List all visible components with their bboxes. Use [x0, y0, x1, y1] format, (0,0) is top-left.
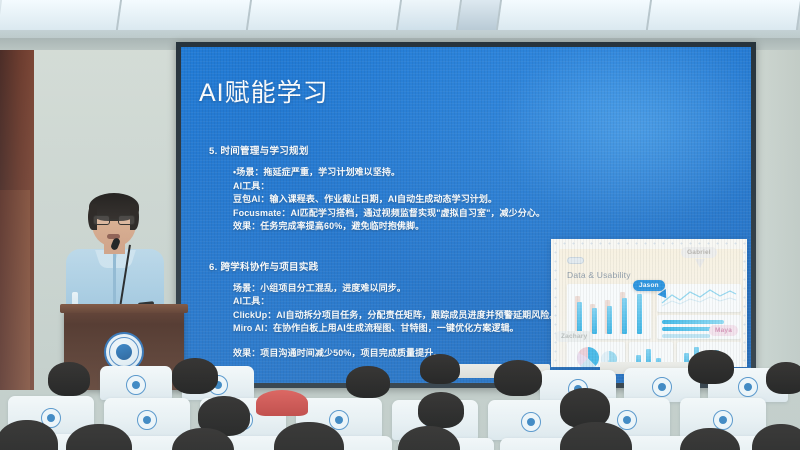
section-6-line-4: Miro AI：在协作白板上用AI生成流程图、甘特图，一键优化方案逻辑。: [233, 322, 563, 336]
seat-logo-icon: [617, 410, 637, 430]
lecture-hall-scene: AI赋能学习 5. 时间管理与学习规划 •场景：拖延症严重，学习计划难以坚持。 …: [0, 0, 800, 450]
section-5-line-5: 效果：任务完成率提高60%，避免临时抱佛脚。: [233, 220, 563, 234]
collaborator-badge-jason: Jason: [633, 280, 665, 291]
section-5-line-3: 豆包AI：输入课程表、作业截止日期，AI自动生成动态学习计划。: [233, 193, 563, 207]
whiteboard-mockup: Data & Usability: [551, 239, 747, 367]
slide-title: AI赋能学习: [199, 73, 329, 109]
section-6-lines: 场景：小组项目分工混乱，进度难以同步。 AI工具： ClickUp：AI自动拆分…: [233, 282, 563, 361]
board-title: Data & Usability: [567, 270, 631, 280]
glasses-icon: [93, 215, 135, 225]
audience-head: [420, 354, 460, 384]
audience-head: [688, 350, 734, 384]
collaborator-badge-zachary: Zachary: [555, 331, 593, 342]
presentation-screen: AI赋能学习 5. 时间管理与学习规划 •场景：拖延症严重，学习计划难以坚持。 …: [181, 47, 751, 383]
audience-cap: [256, 390, 308, 416]
section-5-lines: •场景：拖延症严重，学习计划难以坚持。 AI工具： 豆包AI：输入课程表、作业截…: [233, 166, 563, 234]
board-toolbar-pill: [567, 257, 584, 264]
seat-logo-icon: [521, 412, 541, 432]
slide-body: 5. 时间管理与学习规划 •场景：拖延症严重，学习计划难以坚持。 AI工具： 豆…: [203, 143, 563, 360]
section-6-line-1: 场景：小组项目分工混乱，进度难以同步。: [233, 282, 563, 296]
line-chart-svg: [660, 287, 738, 309]
section-5-line-4: Focusmate：AI匹配学习搭档，通过视频监督实现"虚拟自习室"，减少分心。: [233, 207, 563, 221]
line-chart-card: [657, 284, 741, 312]
seat-logo-icon: [713, 410, 733, 430]
led-screen-bezel: AI赋能学习 5. 时间管理与学习规划 •场景：拖延症严重，学习计划难以坚持。 …: [176, 42, 756, 388]
audience-head: [346, 366, 390, 398]
audience-head: [418, 392, 464, 428]
section-5-line-1: •场景：拖延症严重，学习计划难以坚持。: [233, 166, 563, 180]
collaborator-badge-gabriel: Gabriel: [681, 247, 717, 258]
section-5-line-2: AI工具：: [233, 180, 563, 194]
audience-head: [766, 362, 800, 394]
podium-top-surface: [60, 304, 188, 313]
section-5-heading: 5. 时间管理与学习规划: [209, 143, 563, 157]
gabriel-cursor-arrow: [695, 259, 705, 268]
collaborator-badge-maya: Maya: [709, 325, 738, 336]
section-6-line-3: ClickUp：AI自动拆分项目任务，分配责任矩阵，跟踪成员进度并预警延期风险。: [233, 309, 563, 323]
audience-head: [494, 360, 542, 396]
ceiling: [0, 0, 800, 42]
seat-logo-icon: [738, 377, 758, 397]
seat-logo-icon: [126, 375, 146, 395]
right-wall: [756, 50, 800, 390]
seat-logo-icon: [137, 410, 157, 430]
section-6-heading: 6. 跨学科协作与项目实践: [209, 259, 563, 273]
section-6-line-2: AI工具：: [233, 295, 563, 309]
audience-head: [172, 358, 218, 394]
audience-head: [48, 362, 90, 396]
audience-area: [0, 356, 800, 450]
seat-logo-icon: [652, 377, 672, 397]
